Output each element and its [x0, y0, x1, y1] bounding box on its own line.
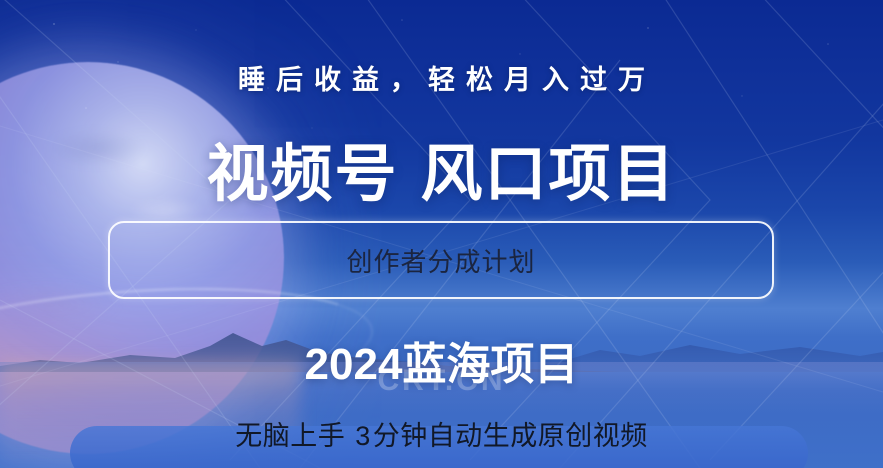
bottom-caption-number: 3: [353, 421, 373, 451]
subtitle-text: 创作者分成计划: [346, 242, 535, 279]
headline-part-two: 风口项目: [421, 140, 677, 209]
bottom-caption-lead: 无脑上手: [235, 421, 345, 451]
tagline-text: 睡后收益，轻松月入过万: [0, 58, 883, 97]
bottom-caption-tail: 分钟自动生成原创视频: [373, 421, 648, 451]
bluesea-title: 2024蓝海项目: [0, 328, 883, 392]
headline: 视频号风口项目: [0, 142, 883, 207]
subtitle-box: 创作者分成计划: [108, 221, 774, 299]
headline-part-one: 视频号: [206, 140, 398, 209]
poster-content: 睡后收益，轻松月入过万 视频号风口项目 创作者分成计划 CRT.CN 2024蓝…: [0, 0, 883, 468]
bottom-caption: 无脑上手 3分钟自动生成原创视频: [0, 414, 883, 453]
promo-poster: 睡后收益，轻松月入过万 视频号风口项目 创作者分成计划 CRT.CN 2024蓝…: [0, 0, 883, 468]
